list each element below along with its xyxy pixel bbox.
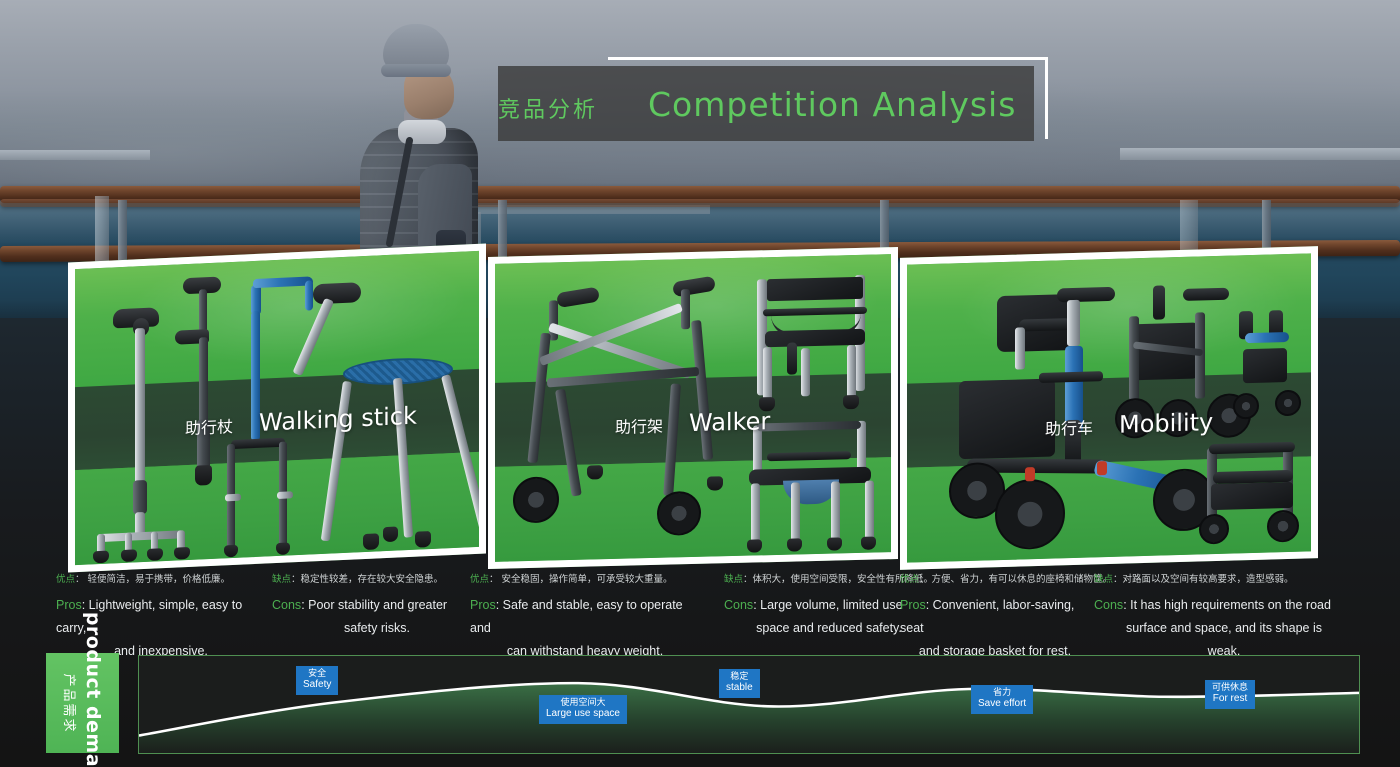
callout-en-5: For rest <box>1212 693 1248 705</box>
proscons-en-2: Cons: Poor stability and greater safety … <box>272 594 482 640</box>
proscons-cn-6: 缺点：对路面以及空间有较高要求，造型感弱。 <box>1094 573 1354 587</box>
demand-area-chart: 安全 Safety 使用空间大 Large use space 稳定 stabl… <box>138 655 1360 754</box>
product-demand-rotated-text: product demand 产品需求 <box>61 611 104 767</box>
proscons-en-tag-3: Pros <box>470 598 496 612</box>
product-panel-walker[interactable]: 助行架Walker <box>488 247 898 569</box>
product-demand-label: product demand 产品需求 <box>46 653 119 753</box>
proscons-en-line1-5: : Convenient, labor-saving, seat <box>900 598 1074 635</box>
proscons-en-tag-2: Cons <box>272 598 301 612</box>
panel-label-cn: 助行车 <box>1045 418 1093 438</box>
proscons-cn-text-2: ：稳定性较差，存在较大安全隐患。 <box>291 574 443 585</box>
proscons-cn-text-3: ： 安全稳固，操作简单，可承受较大重量。 <box>489 574 673 585</box>
rail-post-2 <box>498 200 507 258</box>
proscons-cn-tag-6: 缺点 <box>1094 574 1113 585</box>
proscons-en-tag-5: Pros <box>900 598 926 612</box>
panel-label-en: Mobility <box>1119 408 1213 439</box>
proscons-en-tag-6: Cons <box>1094 598 1123 612</box>
proscons-en-6: Cons: It has high requirements on the ro… <box>1094 594 1354 663</box>
callout-cn-5: 可供休息 <box>1212 683 1248 693</box>
callout-cn-2: 使用空间大 <box>546 698 620 708</box>
proscons-en-tag-4: Cons <box>724 598 753 612</box>
page-title-cn: 竞品分析 <box>498 92 648 124</box>
proscons-block-5-pros: 优点： 方便、省力，有可以休息的座椅和储物筐。 Pros: Convenient… <box>900 573 1090 663</box>
callout-en-1: Safety <box>303 679 331 691</box>
callout-cn-4: 省力 <box>978 688 1026 698</box>
product-panel-walking-stick[interactable]: 助行杖Walking stick <box>68 244 486 573</box>
panel-label-cn: 助行架 <box>615 417 663 437</box>
proscons-block-2-cons: 缺点：稳定性较差，存在较大安全隐患。 Cons: Poor stability … <box>272 573 482 640</box>
product-panel-mobility[interactable]: 助行车Mobility <box>900 246 1318 570</box>
chart-callout-large-use-space[interactable]: 使用空间大 Large use space <box>539 695 627 724</box>
proscons-en-tag-1: Pros <box>56 598 82 612</box>
callout-en-2: Large use space <box>546 708 620 720</box>
proscons-en-line2-2: safety risks. <box>272 617 482 640</box>
product-demand-en: product demand <box>82 611 104 767</box>
callout-en-4: Save effort <box>978 698 1026 710</box>
proscons-block-3-pros: 优点： 安全稳固，操作简单，可承受较大重量。 Pros: Safe and st… <box>470 573 700 663</box>
slide-canvas: 竞品分析 Competition Analysis <box>0 0 1400 767</box>
proscons-en-line1-2: : Poor stability and greater <box>301 598 447 612</box>
panel-label-en: Walker <box>689 407 770 437</box>
proscons-cn-text-1: ： 轻便简洁，易于携带，价格低廉。 <box>75 574 230 585</box>
proscons-cn-1: 优点： 轻便简洁，易于携带，价格低廉。 <box>56 573 266 587</box>
proscons-en-line1-3: : Safe and stable, easy to operate and <box>470 598 683 635</box>
callout-en-3: stable <box>726 682 753 694</box>
proscons-en-line1-6: : It has high requirements on the road <box>1123 598 1331 612</box>
proscons-block-6-cons: 缺点：对路面以及空间有较高要求，造型感弱。 Cons: It has high … <box>1094 573 1354 663</box>
chart-callout-stable[interactable]: 稳定 stable <box>719 669 760 698</box>
proscons-cn-tag-3: 优点 <box>470 574 489 585</box>
product-demand-cn: 产品需求 <box>61 611 80 767</box>
proscons-cn-5: 优点： 方便、省力，有可以休息的座椅和储物筐。 <box>900 573 1090 587</box>
panel-label-walker: 助行架Walker <box>615 407 770 439</box>
callout-cn-1: 安全 <box>303 669 331 679</box>
proscons-cn-2: 缺点：稳定性较差，存在较大安全隐患。 <box>272 573 482 587</box>
proscons-cn-text-5: ： 方便、省力，有可以休息的座椅和储物筐。 <box>919 574 1112 585</box>
chart-callout-for-rest[interactable]: 可供休息 For rest <box>1205 680 1255 709</box>
proscons-cn-3: 优点： 安全稳固，操作简单，可承受较大重量。 <box>470 573 700 587</box>
ship-structure-right <box>1120 148 1400 160</box>
page-title-en: Competition Analysis <box>648 85 1016 124</box>
proscons-cn-text-6: ：对路面以及空间有较高要求，造型感弱。 <box>1113 574 1294 585</box>
callout-cn-3: 稳定 <box>726 672 753 682</box>
chart-callout-safety[interactable]: 安全 Safety <box>296 666 338 695</box>
panel-label-cn: 助行杖 <box>185 417 233 438</box>
proscons-cn-tag-4: 缺点 <box>724 574 743 585</box>
proscons-cn-tag-2: 缺点 <box>272 574 291 585</box>
chart-callout-save-effort[interactable]: 省力 Save effort <box>971 685 1033 714</box>
rail-post-1 <box>118 200 127 260</box>
proscons-en-5: Pros: Convenient, labor-saving, seat and… <box>900 594 1090 663</box>
elderly-person-photo <box>352 24 487 260</box>
person-beanie-brim <box>381 64 451 77</box>
panel-label-mobility: 助行车Mobility <box>1045 408 1213 441</box>
ship-structure-left <box>0 150 150 160</box>
proscons-en-3: Pros: Safe and stable, easy to operate a… <box>470 594 700 663</box>
proscons-cn-tag-1: 优点 <box>56 574 75 585</box>
proscons-en-line1-4: : Large volume, limited use <box>753 598 902 612</box>
proscons-cn-tag-5: 优点 <box>900 574 919 585</box>
